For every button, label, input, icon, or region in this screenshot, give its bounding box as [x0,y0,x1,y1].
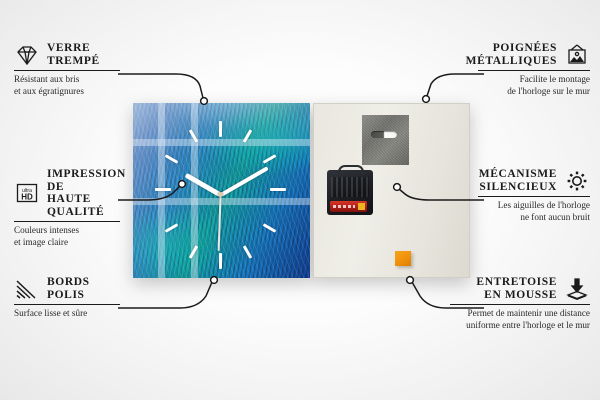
hanger-keyhole-slot [371,131,397,138]
battery-label [333,205,355,208]
clock-front-panel [133,103,310,278]
feature-description: Couleurs intenseset image claire [14,225,120,247]
hour-tick [219,121,222,137]
feature-header: BORDSPOLIS [14,276,120,301]
hour-tick [155,188,171,191]
gear-icon [564,169,590,193]
svg-text:HD: HD [21,193,33,202]
feature-header: ENTRETOISEEN MOUSSE [450,276,590,301]
arrow-down-layers-icon [564,277,590,301]
feature-title: IMPRESSION DEHAUTE QUALITÉ [47,168,126,218]
feature-divider [450,304,590,305]
feature-mecanisme-silencieux: MÉCANISMESILENCIEUX Les aiguilles de l'h… [478,168,590,223]
polished-edge-icon [14,277,40,301]
metal-hanger-plate [362,115,409,165]
connector-bords-polis [118,282,212,308]
mechanism-vents [331,177,369,197]
feature-divider [14,304,120,305]
hour-tick [219,253,222,269]
mechanism-handle [338,165,364,175]
feature-header: VERRETREMPÉ [14,42,120,67]
feature-divider [14,70,120,71]
feature-title: BORDSPOLIS [47,276,90,301]
clock-mechanism [327,170,373,215]
hands-pivot [218,192,223,197]
feature-header: POIGNÉESMÉTALLIQUES [478,42,590,67]
feature-bords-polis: BORDSPOLIS Surface lisse et sûre [14,276,120,320]
feature-impression-haute-qualite: ultra HD IMPRESSION DEHAUTE QUALITÉ Coul… [14,168,120,248]
hour-tick [270,188,286,191]
foam-spacer [395,251,411,266]
connector-dot-poignees [423,96,430,103]
feature-verre-trempe: VERRETREMPÉ Résistant aux briset aux égr… [14,42,120,97]
feature-title: VERRETREMPÉ [47,42,100,67]
feature-divider [14,221,120,222]
feature-poignees-metalliques: POIGNÉESMÉTALLIQUES Facilite le montaged… [478,42,590,97]
feature-title: MÉCANISMESILENCIEUX [479,168,557,193]
feature-divider [478,196,590,197]
diamond-icon [14,43,40,67]
feature-description: Résistant aux briset aux égratignures [14,74,120,96]
battery [330,201,367,212]
ultra-hd-icon: ultra HD [14,181,40,205]
feature-description: Surface lisse et sûre [14,308,120,319]
feature-description: Permet de maintenir une distanceuniforme… [450,308,590,330]
feature-header: MÉCANISMESILENCIEUX [478,168,590,193]
connector-poignees [427,74,484,96]
feature-entretoise-en-mousse: ENTRETOISEEN MOUSSE Permet de maintenir … [450,276,590,331]
feature-header: ultra HD IMPRESSION DEHAUTE QUALITÉ [14,168,120,218]
feature-description: Facilite le montagede l'horloge sur le m… [478,74,590,96]
connector-verre-trempe [118,74,203,98]
feature-title: POIGNÉESMÉTALLIQUES [466,42,557,67]
feature-divider [478,70,590,71]
infographic-canvas: VERRETREMPÉ Résistant aux briset aux égr… [0,0,600,400]
wall-hanging-frame-icon [564,43,590,67]
feature-description: Les aiguilles de l'horlogene font aucun … [478,200,590,222]
product-image [133,103,470,278]
feature-title: ENTRETOISEEN MOUSSE [476,276,557,301]
